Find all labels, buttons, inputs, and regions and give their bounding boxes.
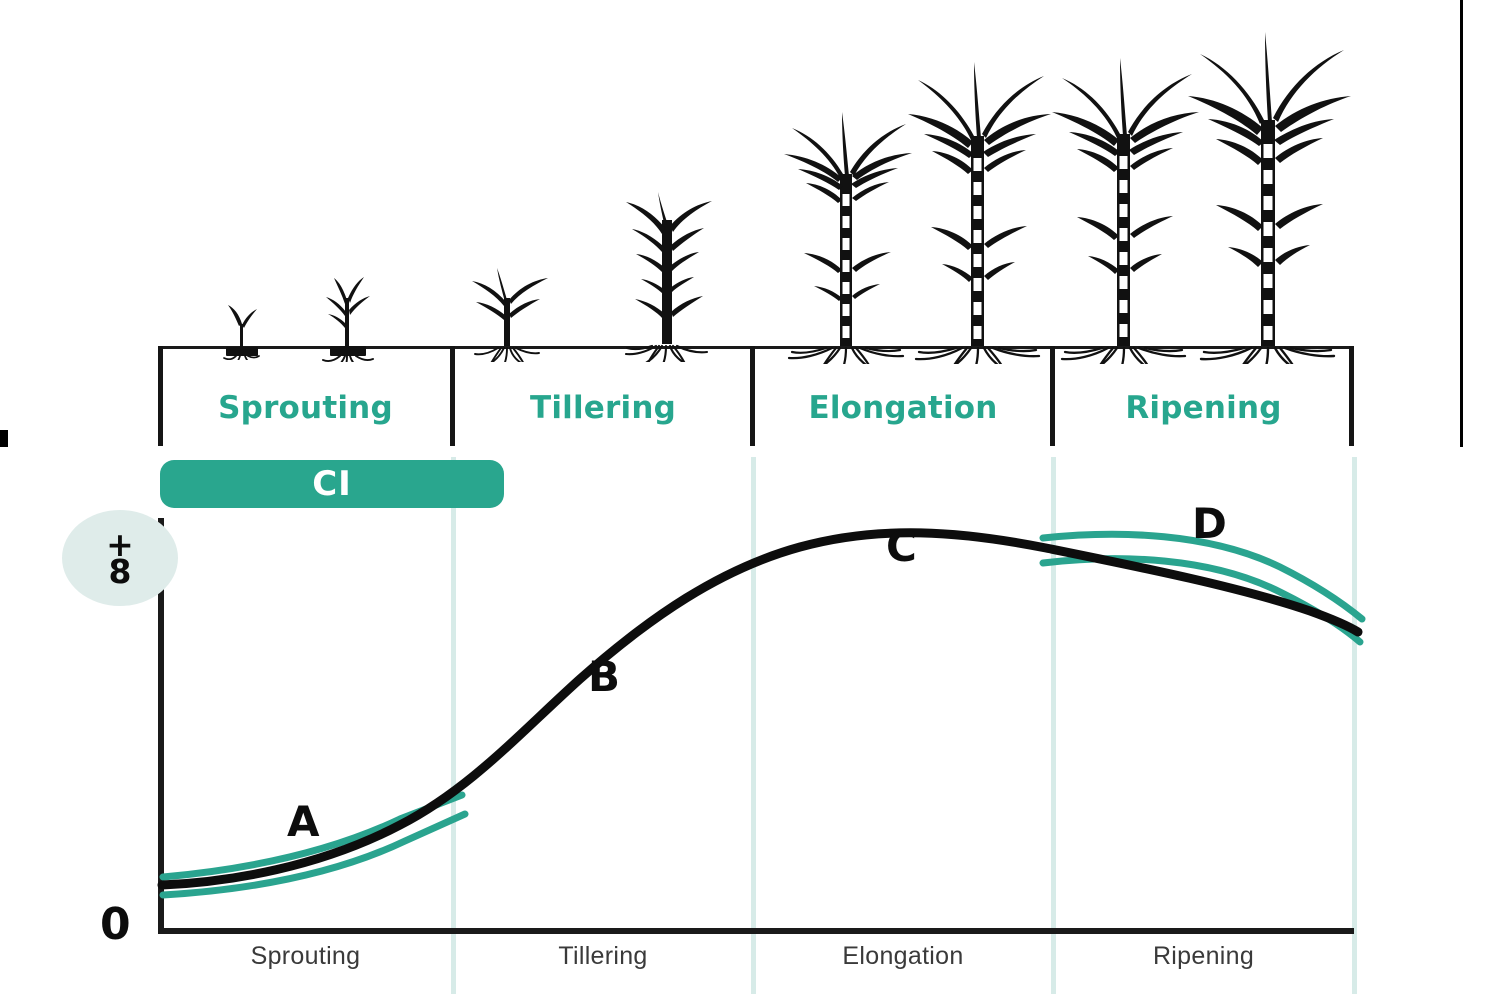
sugarcane-sprout-small-icon bbox=[206, 300, 276, 360]
sugarcane-tiller-icon bbox=[602, 192, 732, 362]
right-border-strip bbox=[1460, 0, 1486, 447]
left-corner-mark bbox=[0, 430, 8, 447]
y-axis-max-label: + 8 bbox=[106, 531, 134, 585]
figure-root: Sprouting Tillering Elongation Ripening … bbox=[0, 0, 1486, 994]
stage-label-tillering: Tillering bbox=[453, 390, 753, 426]
sugarcane-sprout-icon bbox=[300, 276, 392, 362]
y-axis-max-value: 8 bbox=[109, 552, 132, 591]
ci-legend-label: CI bbox=[312, 464, 352, 504]
stage-label-elongation: Elongation bbox=[753, 390, 1053, 426]
x-tick-label-elongation: Elongation bbox=[753, 942, 1053, 971]
confidence-interval-legend[interactable]: CI bbox=[160, 460, 504, 508]
curve-annotation-c: C bbox=[886, 522, 917, 571]
chart-stage-divider bbox=[451, 457, 456, 994]
stage-label-ripening: Ripening bbox=[1053, 390, 1354, 426]
x-tick-label-sprouting: Sprouting bbox=[158, 942, 453, 971]
sugarcane-mature-tall-icon bbox=[1182, 4, 1354, 364]
growth-curve-chart: CI + 8 0 A B C D Sprouting Till bbox=[0, 447, 1486, 994]
stage-label-sprouting: Sprouting bbox=[158, 390, 453, 426]
growth-stage-illustration-panel: Sprouting Tillering Elongation Ripening bbox=[0, 0, 1460, 447]
curve-annotation-b: B bbox=[588, 652, 620, 701]
x-axis bbox=[158, 928, 1354, 934]
y-axis-max-badge: + 8 bbox=[62, 510, 178, 606]
chart-stage-divider bbox=[1051, 457, 1056, 994]
curve-annotation-a: A bbox=[287, 797, 320, 846]
curve-overlay bbox=[0, 447, 1486, 994]
x-tick-label-tillering: Tillering bbox=[453, 942, 753, 971]
curve-annotation-d: D bbox=[1192, 499, 1227, 548]
chart-stage-divider bbox=[1352, 457, 1357, 994]
sugarcane-tiller-small-icon bbox=[452, 262, 562, 362]
growth-curve-line bbox=[162, 533, 1358, 885]
sugarcane-stalk-tall-icon bbox=[898, 32, 1058, 364]
ci-lower-ripening bbox=[1043, 559, 1360, 642]
sugarcane-mature-icon bbox=[1044, 30, 1204, 364]
x-tick-label-ripening: Ripening bbox=[1053, 942, 1354, 971]
chart-stage-divider bbox=[751, 457, 756, 994]
y-axis-min-label: 0 bbox=[100, 899, 131, 950]
